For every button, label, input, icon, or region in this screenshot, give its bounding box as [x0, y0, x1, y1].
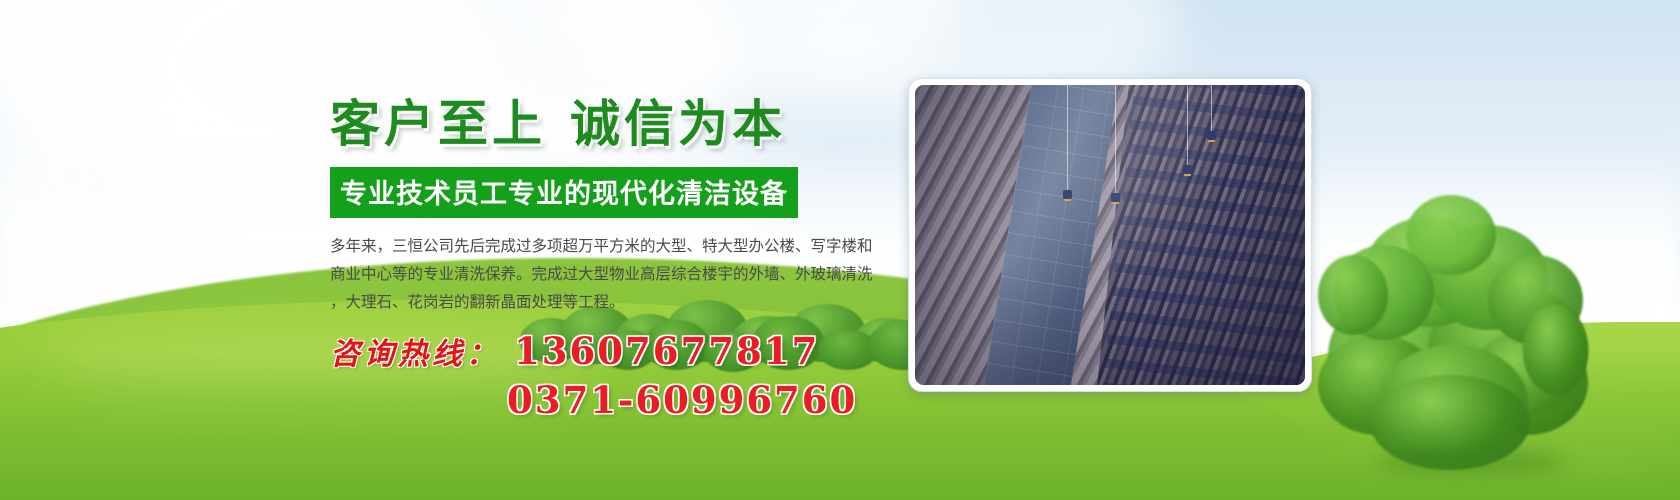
tree-canopy-blob [1318, 255, 1388, 335]
photo-vignette [915, 85, 1305, 385]
description-line: 商业中心等的专业清洗保养。完成过大型物业高层综合楼宇的外墙、外玻璃清洗 [330, 260, 896, 288]
headline-part2: 诚信为本 [570, 94, 786, 153]
headline-part1: 客户至上 [330, 94, 546, 153]
tree-canopy-blob [1523, 305, 1588, 395]
banner-text-block: 客户至上诚信为本 专业技术员工专业的现代化清洁设备 多年来，三恒公司先后完成过多… [322, 96, 902, 419]
tree-canopy-blob [1370, 375, 1530, 470]
hotline-label: 咨询热线： [330, 337, 500, 372]
building-photo [915, 85, 1305, 385]
hotline-row: 咨询热线：13607677817 [330, 333, 902, 370]
tree-icon [1318, 195, 1588, 470]
description-line: ，大理石、花岗岩的翻新晶面处理等工程。 [330, 288, 896, 316]
description-line: 多年来，三恒公司先后完成过多项超万平方米的大型、特大型办公楼、写字楼和 [330, 232, 896, 260]
promo-banner: 客户至上诚信为本 专业技术员工专业的现代化清洁设备 多年来，三恒公司先后完成过多… [0, 0, 1680, 500]
hotline-telephone-number[interactable]: 0371-60996760 [507, 378, 857, 422]
tagline-badge: 专业技术员工专业的现代化清洁设备 [330, 167, 798, 218]
telephone-row: 0371-60996760 [507, 382, 902, 419]
description-paragraph: 多年来，三恒公司先后完成过多项超万平方米的大型、特大型办公楼、写字楼和 商业中心… [330, 232, 896, 317]
page-title: 客户至上诚信为本 [330, 96, 902, 151]
building-photo-frame [908, 78, 1312, 392]
hotline-mobile-number[interactable]: 13607677817 [514, 329, 819, 373]
